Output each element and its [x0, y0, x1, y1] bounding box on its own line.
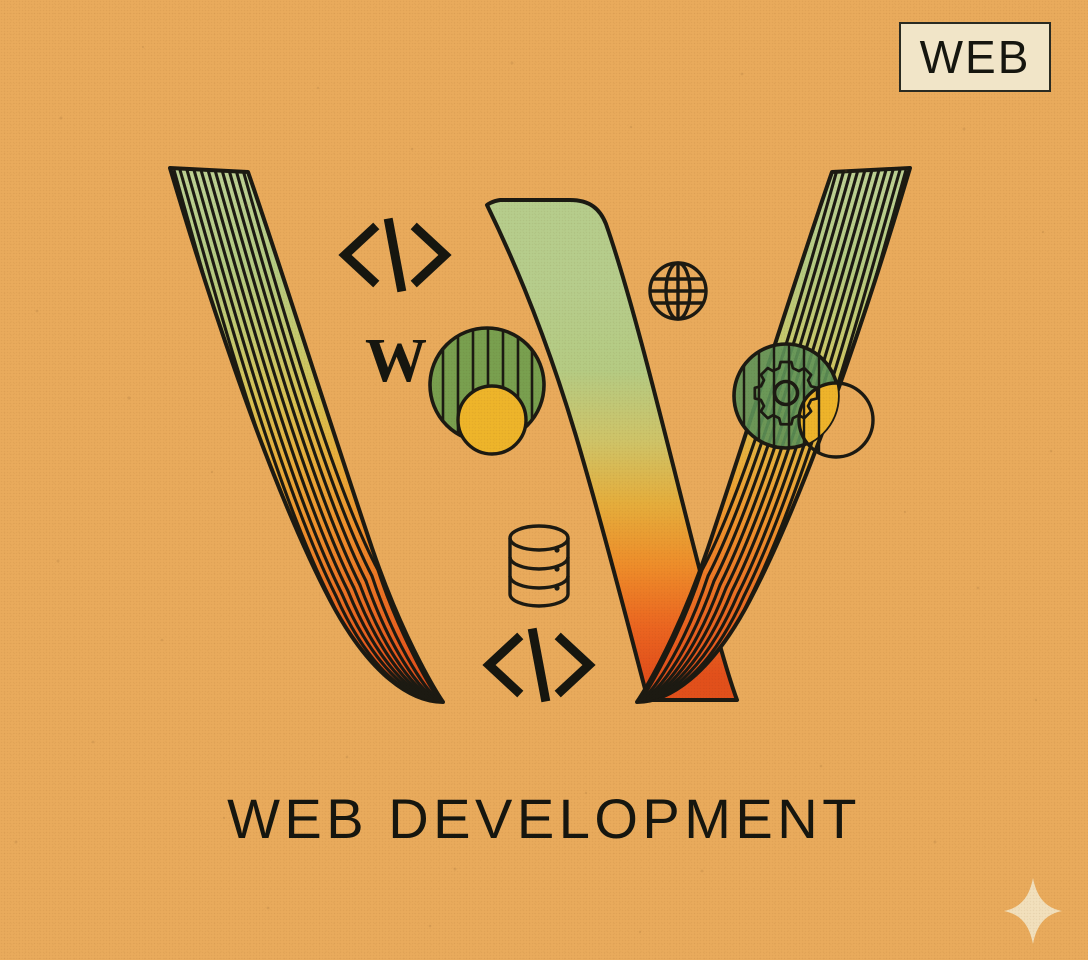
- left-disc-group: [430, 326, 544, 454]
- right-disc-group: [734, 340, 873, 457]
- code-tag-top-icon: [345, 223, 445, 287]
- database-icon: [510, 526, 568, 606]
- page-title: WEB DEVELOPMENT: [0, 786, 1088, 851]
- w-left-stroke: [170, 168, 443, 702]
- sparkle-icon: [1004, 878, 1062, 944]
- web-badge[interactable]: WEB: [899, 22, 1051, 92]
- web-badge-label: WEB: [920, 34, 1031, 80]
- globe-icon: [650, 263, 706, 319]
- poster-canvas: W WEB WEB DEVELOPMENT: [0, 0, 1088, 960]
- code-tag-bottom-icon: [489, 633, 589, 697]
- serif-w-mark: W: [365, 327, 427, 395]
